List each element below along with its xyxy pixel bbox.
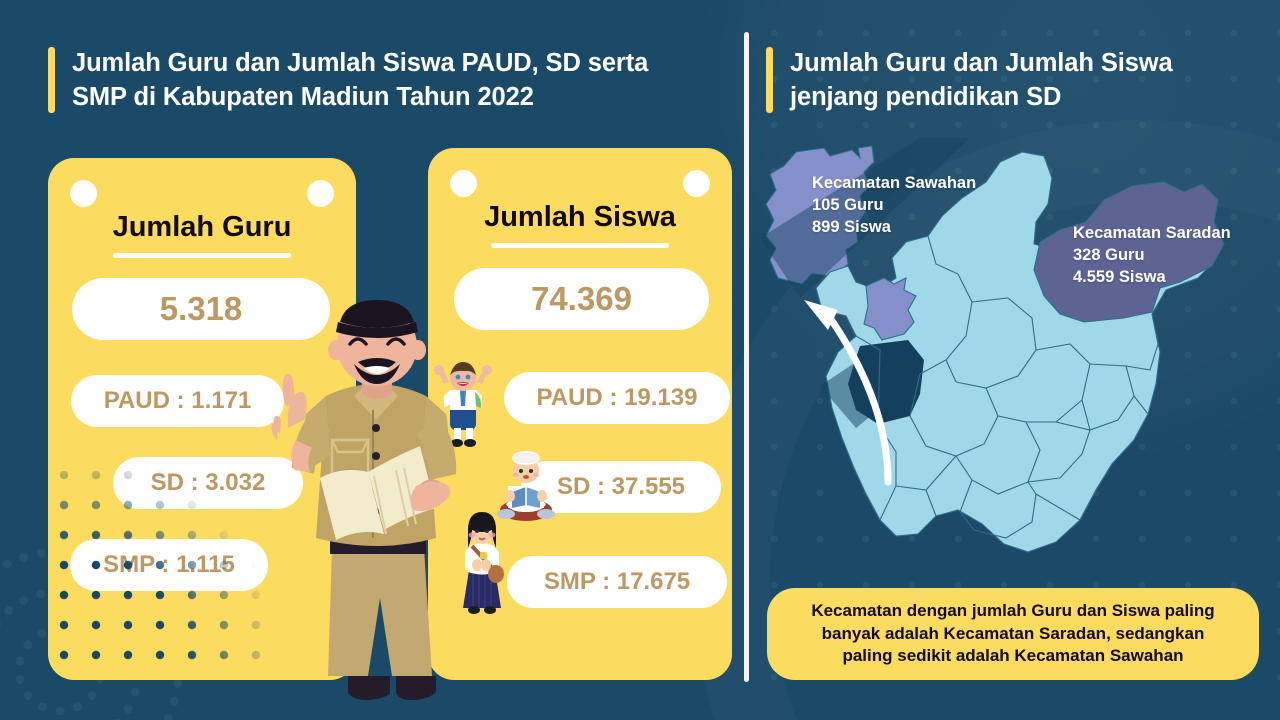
stat-total-siswa: 74.369 [454, 268, 709, 330]
illustration-teacher-pointing-with-book [270, 300, 480, 720]
punch-hole-right [683, 170, 710, 197]
map-callout-saradan: Kecamatan Saradan 328 Guru 4.559 Siswa [1073, 222, 1231, 288]
heading-accent-bar [48, 47, 55, 113]
stat-guru-smp: SMP : 1.115 [70, 539, 268, 591]
map-callout-sawahan: Kecamatan Sawahan 105 Guru 899 Siswa [812, 172, 976, 238]
card-title-guru: Jumlah Guru [48, 211, 356, 244]
panel-divider [744, 32, 749, 682]
stat-siswa-smp: SMP : 17.675 [507, 556, 727, 608]
left-heading-text: Jumlah Guru dan Jumlah Siswa PAUD, SD se… [72, 47, 648, 115]
right-panel-heading: Jumlah Guru dan Jumlah Siswa jenjang pen… [766, 47, 1173, 115]
punch-hole-left [70, 180, 97, 207]
punch-hole-right [307, 180, 334, 207]
punch-hole-left [450, 170, 477, 197]
infographic-canvas: Jumlah Guru dan Jumlah Siswa PAUD, SD se… [0, 0, 1280, 720]
card-title-siswa: Jumlah Siswa [428, 201, 732, 234]
card-title-underline [491, 243, 669, 248]
footnote-text: Kecamatan dengan jumlah Guru dan Siswa p… [811, 600, 1214, 667]
footnote-callout: Kecamatan dengan jumlah Guru dan Siswa p… [767, 588, 1259, 680]
stat-guru-paud: PAUD : 1.171 [71, 375, 284, 427]
right-heading-text: Jumlah Guru dan Jumlah Siswa jenjang pen… [790, 47, 1173, 115]
stat-siswa-paud: PAUD : 19.139 [504, 372, 730, 424]
heading-accent-bar [766, 47, 773, 113]
card-title-underline [113, 253, 291, 258]
left-panel-heading: Jumlah Guru dan Jumlah Siswa PAUD, SD se… [48, 47, 648, 115]
